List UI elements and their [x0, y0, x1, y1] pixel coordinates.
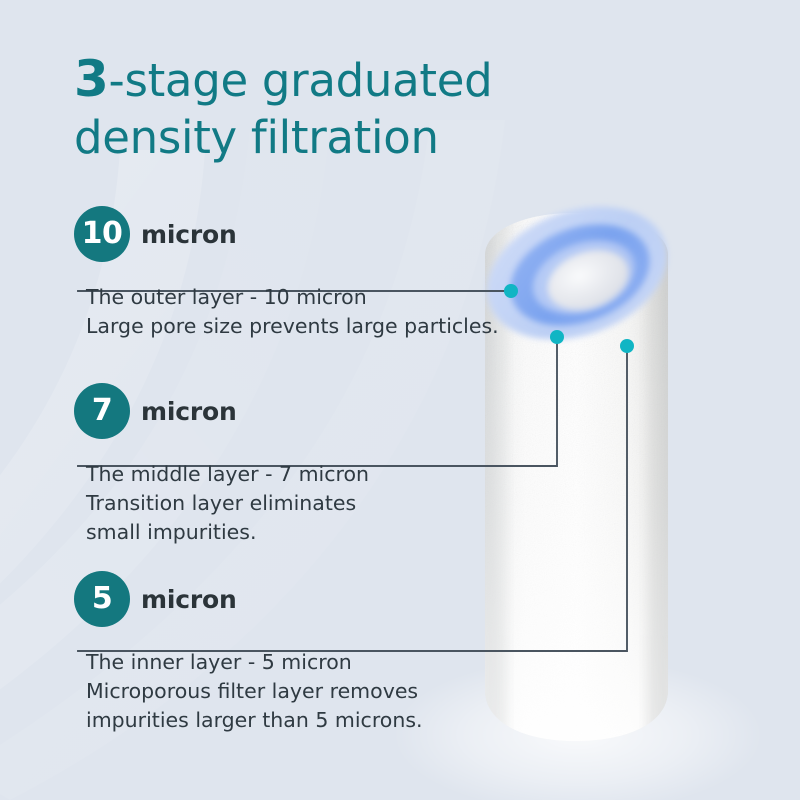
micron-badge-10: 10 — [74, 206, 130, 262]
title-rest: -stage graduated — [109, 54, 493, 107]
stage-description-7-micron: The middle layer - 7 micron Transition l… — [86, 460, 369, 547]
micron-badge-5: 5 — [74, 571, 130, 627]
title-line-2: density filtration — [74, 111, 439, 164]
stage-description-10-micron: The outer layer - 10 micron Large pore s… — [86, 283, 499, 341]
stage-block-7-micron: 7 micron The middle layer - 7 micron Tra… — [74, 382, 369, 547]
badge-row-5-micron: 5 micron — [74, 570, 423, 628]
stage-description-5-micron: The inner layer - 5 micron Microporous f… — [86, 648, 423, 735]
micron-unit-label-10: micron — [141, 220, 237, 249]
micron-unit-label-5: micron — [141, 585, 237, 614]
stage-block-5-micron: 5 micron The inner layer - 5 micron Micr… — [74, 570, 423, 735]
infographic-canvas: 3-stage graduated density filtration 10 … — [0, 0, 800, 800]
badge-row-10-micron: 10 micron — [74, 205, 499, 263]
micron-badge-7: 7 — [74, 383, 130, 439]
micron-unit-label-7: micron — [141, 397, 237, 426]
badge-row-7-micron: 7 micron — [74, 382, 369, 440]
title-number: 3 — [74, 50, 109, 108]
page-title: 3-stage graduated density filtration — [74, 48, 594, 166]
stage-block-10-micron: 10 micron The outer layer - 10 micron La… — [74, 205, 499, 341]
